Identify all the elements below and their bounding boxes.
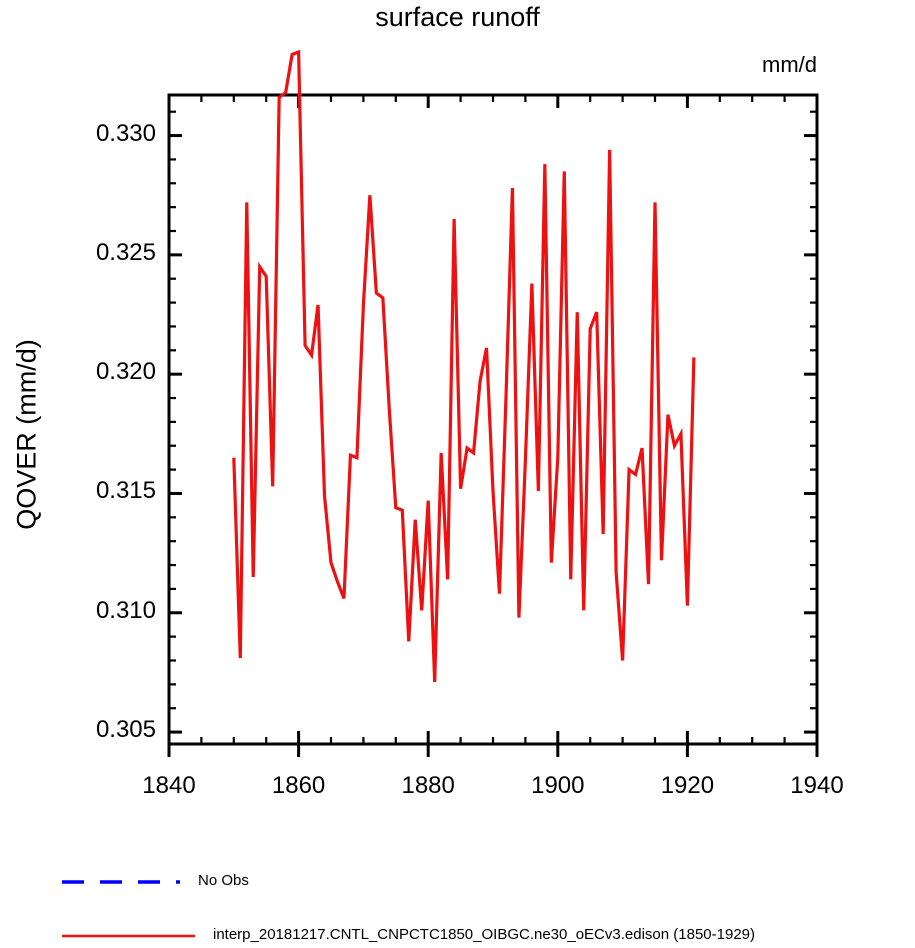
axis-ticks [169,95,817,757]
y-tick-label: 0.325 [96,239,156,267]
y-axis-title: QOVER (mm/d) [12,270,43,600]
x-tick-label: 1880 [368,772,488,800]
y-tick-label: 0.330 [96,120,156,148]
page-title: surface runoff [0,2,915,33]
units-label: mm/d [762,52,817,78]
chart-root: surface runoff mm/d QOVER (mm/d) 0.3050.… [0,0,915,948]
x-tick-label: 1900 [498,772,618,800]
y-tick-label: 0.315 [96,477,156,505]
data-series-group [234,52,694,682]
legend-label-1: interp_20181217.CNTL_CNPCTC1850_OIBGC.ne… [213,926,755,943]
y-tick-label: 0.320 [96,358,156,386]
y-tick-label: 0.310 [96,597,156,625]
x-tick-label: 1920 [627,772,747,800]
x-tick-label: 1840 [109,772,229,800]
x-tick-label: 1940 [757,772,877,800]
axes-frame [169,95,817,744]
data-series-1 [234,52,694,682]
y-tick-label: 0.305 [96,716,156,744]
x-tick-label: 1860 [239,772,359,800]
legend-lines [62,882,195,936]
legend-label-0: No Obs [198,872,249,889]
